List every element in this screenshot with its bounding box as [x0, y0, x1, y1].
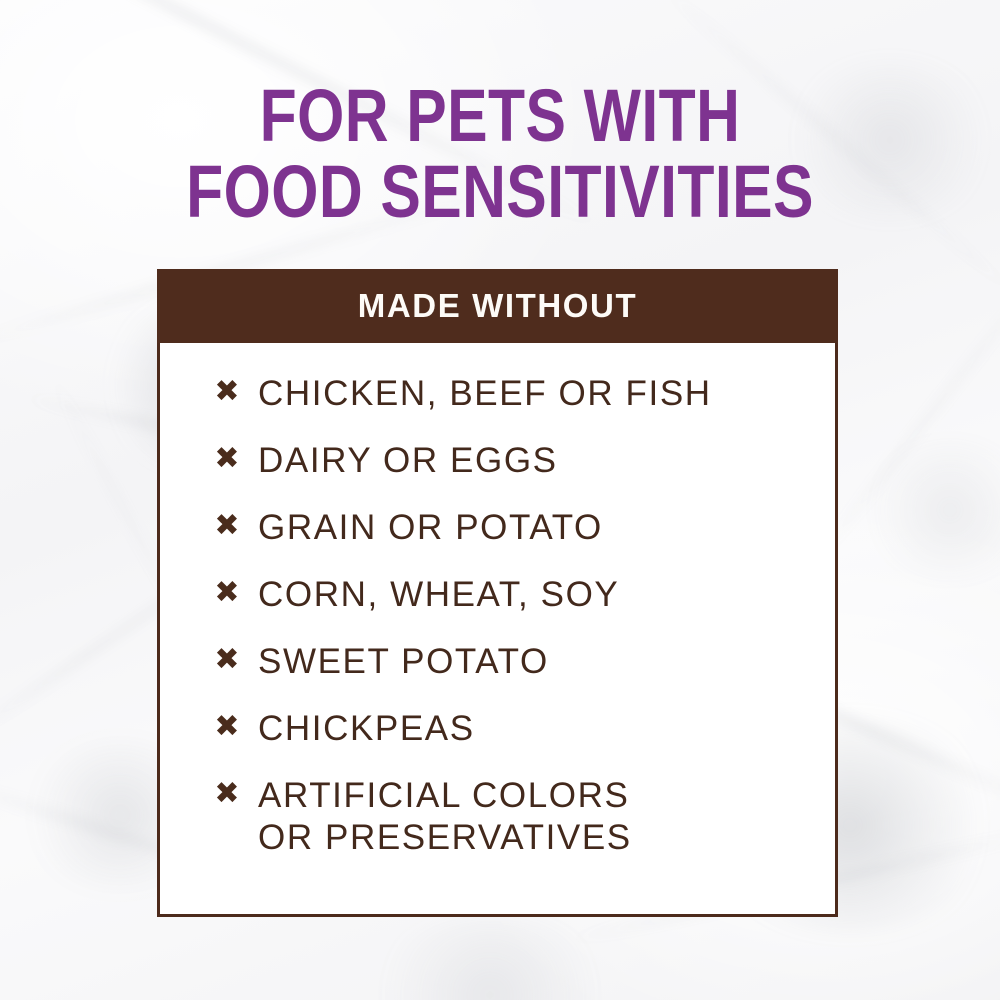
- cross-x-icon: ✖: [212, 708, 242, 744]
- list-item-label: SWEET POTATO: [258, 641, 549, 683]
- list-item: ✖ CHICKPEAS: [212, 708, 835, 753]
- list-item-label: DAIRY OR EGGS: [258, 440, 558, 482]
- page-title-line-1: FOR PETS WITH: [90, 78, 910, 154]
- list-item: ✖ SWEET POTATO: [212, 641, 835, 686]
- marketing-panel: FOR PETS WITH FOOD SENSITIVITIES MADE WI…: [0, 0, 1000, 1000]
- list-item: ✖ DAIRY OR EGGS: [212, 440, 835, 485]
- list-item: ✖ GRAIN OR POTATO: [212, 507, 835, 552]
- list-item: ✖ ARTIFICIAL COLORS OR PRESERVATIVES: [212, 775, 835, 859]
- list-item-label: CORN, WHEAT, SOY: [258, 574, 619, 616]
- list-item-label: ARTIFICIAL COLORS OR PRESERVATIVES: [258, 775, 632, 859]
- card-banner-title: MADE WITHOUT: [358, 287, 638, 325]
- card-banner: MADE WITHOUT: [157, 269, 838, 343]
- card-body: ✖ CHICKEN, BEEF OR FISH ✖ DAIRY OR EGGS …: [160, 343, 835, 914]
- cross-x-icon: ✖: [212, 373, 242, 409]
- made-without-card: MADE WITHOUT ✖ CHICKEN, BEEF OR FISH ✖ D…: [157, 269, 838, 917]
- cross-x-icon: ✖: [212, 507, 242, 543]
- marble-cloud: [360, 920, 620, 1000]
- list-item: ✖ CHICKEN, BEEF OR FISH: [212, 373, 835, 418]
- list-item-label: GRAIN OR POTATO: [258, 507, 603, 549]
- cross-x-icon: ✖: [212, 641, 242, 677]
- list-item: ✖ CORN, WHEAT, SOY: [212, 574, 835, 619]
- page-title-line-2: FOOD SENSITIVITIES: [90, 154, 910, 230]
- exclusion-list: ✖ CHICKEN, BEEF OR FISH ✖ DAIRY OR EGGS …: [160, 373, 835, 859]
- marble-cloud: [860, 440, 1000, 580]
- cross-x-icon: ✖: [212, 775, 242, 811]
- page-title: FOR PETS WITH FOOD SENSITIVITIES: [90, 78, 910, 230]
- cross-x-icon: ✖: [212, 440, 242, 476]
- cross-x-icon: ✖: [212, 574, 242, 610]
- list-item-label: CHICKPEAS: [258, 708, 475, 750]
- list-item-label: CHICKEN, BEEF OR FISH: [258, 373, 712, 415]
